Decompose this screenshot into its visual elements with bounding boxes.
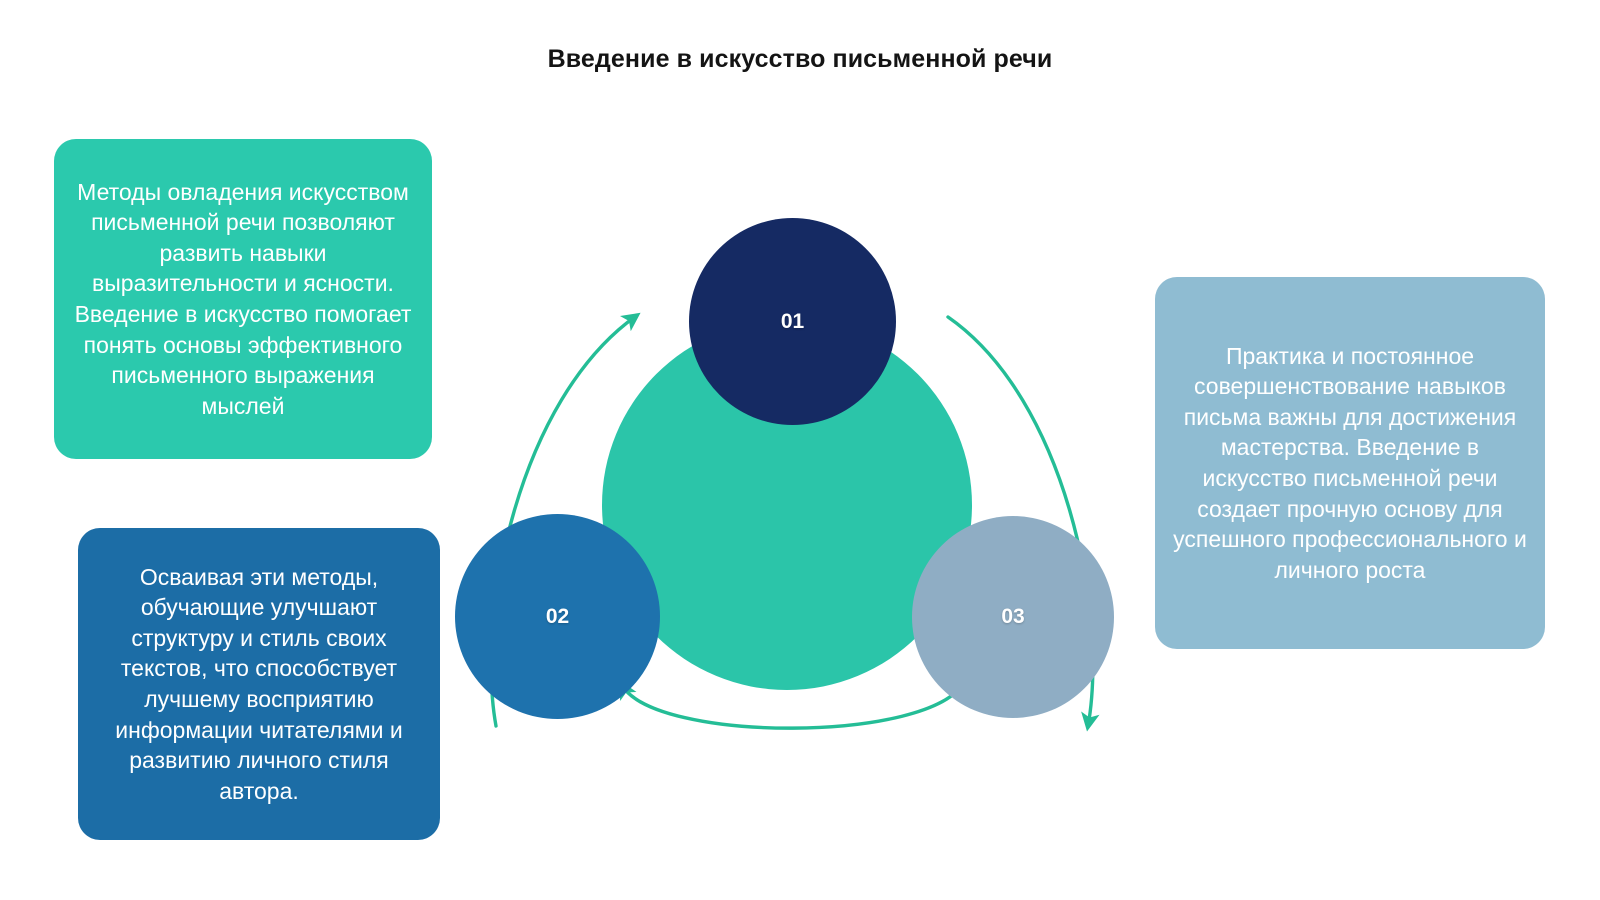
cycle-node-03[interactable]: 03 [912,516,1114,718]
infographic-canvas: Введение в искусство письменной речи Мет… [0,0,1600,900]
cycle-diagram: 01 02 03 [440,185,1140,765]
info-card-left-top: Методы овладения искусством письменной р… [54,139,432,459]
cycle-node-02-number: 02 [546,605,569,629]
info-card-left-bottom-text: Осваивая эти методы, обучающие улучшают … [94,562,424,807]
cycle-node-03-number: 03 [1001,605,1024,629]
info-card-left-bottom: Осваивая эти методы, обучающие улучшают … [78,528,440,840]
info-card-left-top-text: Методы овладения искусством письменной р… [70,177,416,422]
info-card-right-text: Практика и постоянное совершенствование … [1171,341,1529,586]
cycle-node-02[interactable]: 02 [455,514,660,719]
cycle-node-01-number: 01 [781,310,804,334]
info-card-right: Практика и постоянное совершенствование … [1155,277,1545,649]
cycle-node-01[interactable]: 01 [689,218,896,425]
page-title: Введение в искусство письменной речи [0,45,1600,74]
